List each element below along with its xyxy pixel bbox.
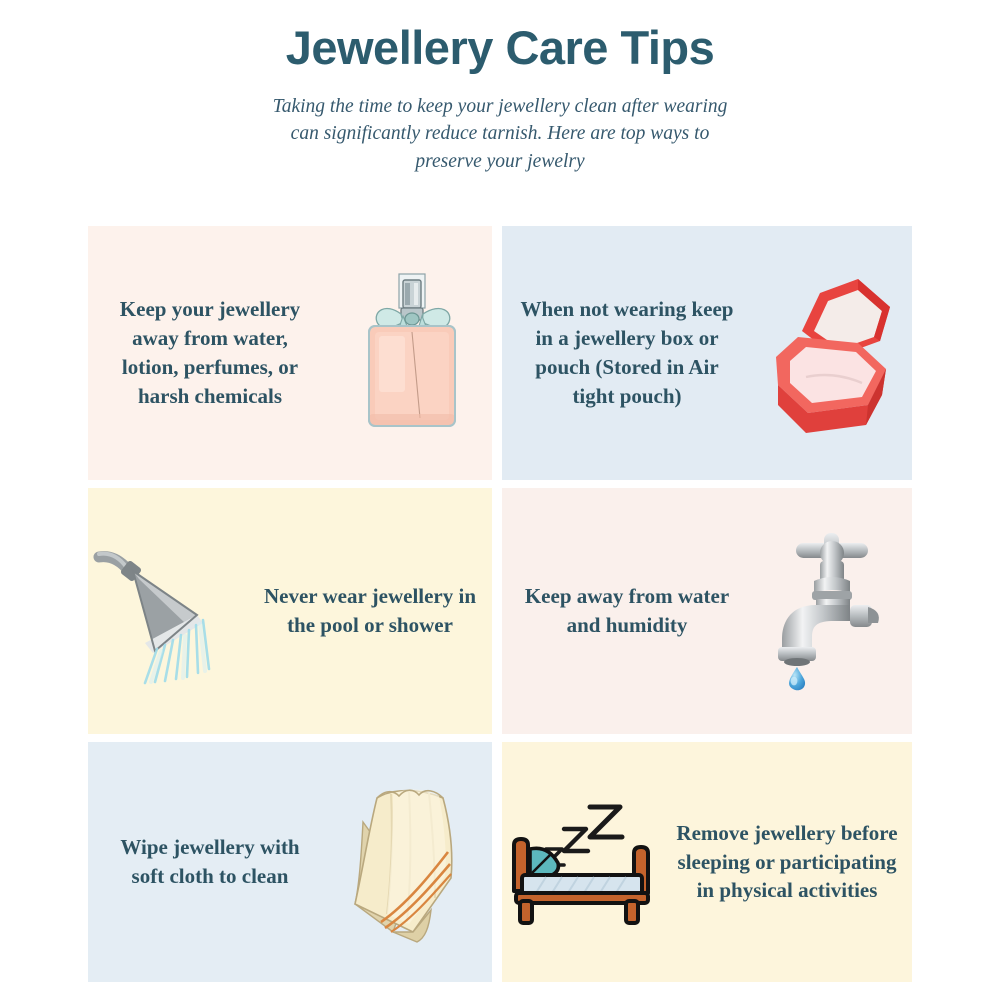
tip-card-text: Keep your jewellery away from water, lot…	[88, 295, 332, 411]
tip-card-shower: Never wear jewellery in the pool or show…	[88, 488, 492, 734]
infographic-page: Jewellery Care Tips Taking the time to k…	[0, 0, 1000, 1000]
header: Jewellery Care Tips Taking the time to k…	[0, 0, 1000, 176]
bed-sleep-icon	[502, 742, 662, 982]
tips-grid: Keep your jewellery away from water, lot…	[88, 226, 912, 982]
shower-head-icon	[88, 488, 248, 734]
tip-card-text: Wipe jewellery with soft cloth to clean	[88, 833, 332, 891]
tip-card-bed: Remove jewellery before sleeping or part…	[502, 742, 912, 982]
tip-card-perfume: Keep your jewellery away from water, lot…	[88, 226, 492, 480]
tip-card-text: Never wear jewellery in the pool or show…	[248, 582, 492, 640]
tip-card-text: Remove jewellery before sleeping or part…	[662, 819, 912, 906]
tip-card-cloth: Wipe jewellery with soft cloth to clean	[88, 742, 492, 982]
tip-card-text: When not wearing keep in a jewellery box…	[502, 295, 752, 411]
perfume-bottle-icon	[332, 226, 492, 480]
tip-card-jewellery-box: When not wearing keep in a jewellery box…	[502, 226, 912, 480]
jewellery-box-icon	[752, 226, 912, 480]
page-subtitle: Taking the time to keep your jewellery c…	[265, 93, 735, 176]
page-title: Jewellery Care Tips	[0, 22, 1000, 75]
tip-card-faucet: Keep away from water and humidity	[502, 488, 912, 734]
faucet-icon	[752, 488, 912, 734]
polishing-cloth-icon	[332, 742, 492, 982]
tip-card-text: Keep away from water and humidity	[502, 582, 752, 640]
